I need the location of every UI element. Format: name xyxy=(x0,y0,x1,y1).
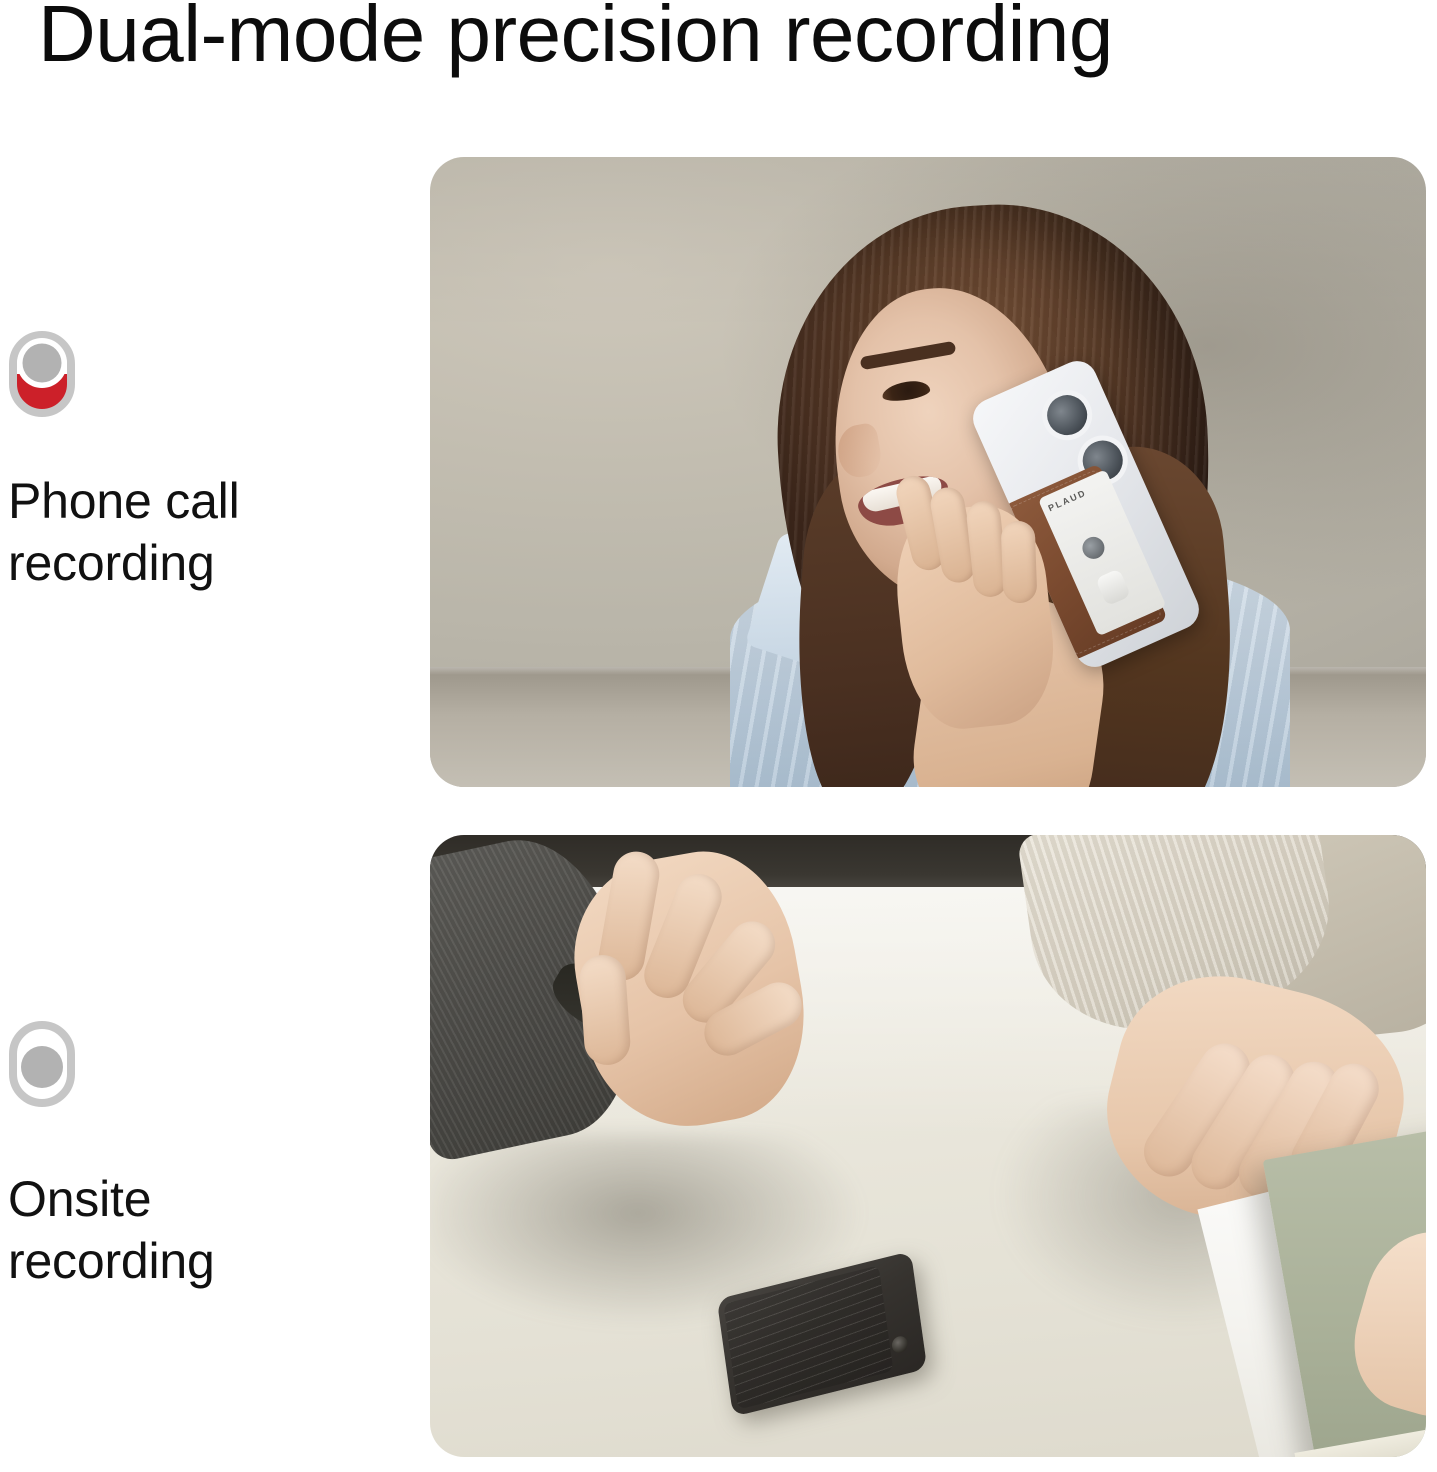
recorder-port xyxy=(891,1335,909,1355)
thumb xyxy=(578,954,632,1067)
feature-label-line-2: recording xyxy=(8,1230,338,1292)
photo-scene-call: PLAUD xyxy=(430,157,1426,787)
photo-scene-table xyxy=(430,835,1426,1457)
feature-onsite-recording: Onsite recording xyxy=(8,1020,408,1292)
feature-phone-call-recording: Phone call recording xyxy=(8,330,408,594)
feature-label: Phone call recording xyxy=(8,470,338,594)
page-title: Dual-mode precision recording xyxy=(38,0,1113,76)
feature-label: Onsite recording xyxy=(8,1168,338,1292)
feature-label-line-1: Phone call xyxy=(8,470,338,532)
finger xyxy=(1001,520,1038,603)
woman-on-phone-call-photo: PLAUD xyxy=(430,157,1426,787)
record-button-gray-icon xyxy=(8,1020,76,1108)
feature-label-line-1: Onsite xyxy=(8,1168,338,1230)
record-button-red-icon xyxy=(8,330,76,418)
feature-label-line-2: recording xyxy=(8,532,338,594)
feature-list: Phone call recording Onsite recording xyxy=(0,150,420,1460)
onsite-meeting-table-photo xyxy=(430,835,1426,1457)
